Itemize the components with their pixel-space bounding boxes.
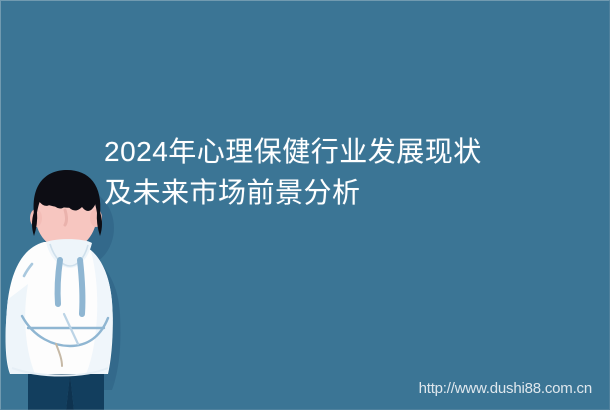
page-title: 2024年心理保健行业发展现状 及未来市场前景分析 <box>104 131 574 213</box>
article-cover-banner: 2024年心理保健行业发展现状 及未来市场前景分析 http://www.dus… <box>0 0 610 410</box>
title-line-1: 2024年心理保健行业发展现状 <box>104 131 574 172</box>
title-line-2: 及未来市场前景分析 <box>104 172 574 213</box>
hoodie <box>6 239 114 376</box>
watermark-url: http://www.dushi88.com.cn <box>419 381 592 397</box>
